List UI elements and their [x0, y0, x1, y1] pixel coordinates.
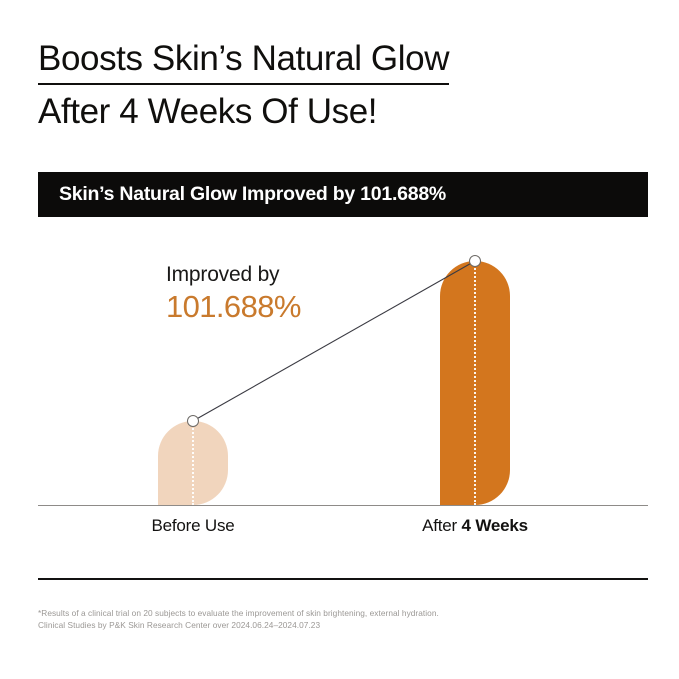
footnote-line-1: *Results of a clinical trial on 20 subje…: [38, 608, 638, 620]
bar-before-use: [158, 421, 228, 505]
infographic-canvas: Boosts Skin’s Natural Glow After 4 Weeks…: [0, 0, 679, 679]
improvement-callout-value: 101.688%: [166, 288, 301, 326]
axis-label-after-prefix: After: [422, 516, 461, 535]
data-point-marker-after-4-weeks: [469, 255, 481, 267]
footnote-line-2: Clinical Studies by P&K Skin Research Ce…: [38, 620, 638, 632]
improvement-callout-label: Improved by: [166, 262, 301, 288]
bar-center-dashed-line: [192, 421, 194, 505]
improvement-callout: Improved by 101.688%: [166, 262, 301, 326]
bar-center-dashed-line: [474, 261, 476, 505]
bar-after-4-weeks: [440, 261, 510, 505]
footer-divider: [38, 578, 648, 580]
data-point-marker-before-use: [187, 415, 199, 427]
axis-label-before-use: Before Use: [83, 516, 303, 536]
axis-label-after-4-weeks: After 4 Weeks: [365, 516, 585, 536]
footnote: *Results of a clinical trial on 20 subje…: [38, 608, 638, 631]
chart-baseline: [38, 505, 648, 506]
axis-label-after-strong: 4 Weeks: [462, 516, 528, 535]
